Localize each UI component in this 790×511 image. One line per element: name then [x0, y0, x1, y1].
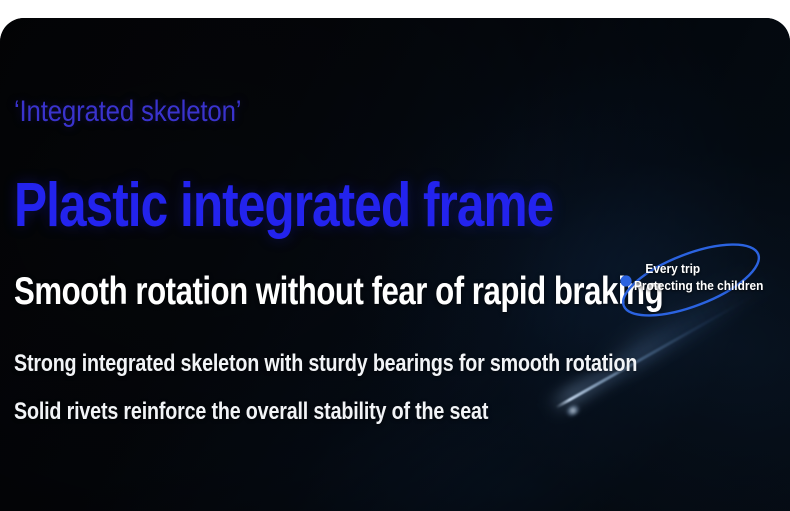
feature-bullet: Solid rivets reinforce the overall stabi…	[14, 400, 488, 424]
subheadline-text: Smooth rotation without fear of rapid br…	[14, 272, 663, 311]
banner-image: ‘Integrated skeleton’ Plastic integrated…	[0, 0, 790, 511]
callout-badge: Every trip Protecting the children	[598, 234, 788, 326]
callout-text-group: Every trip Protecting the children	[634, 261, 784, 295]
headline-text: Plastic integrated frame	[14, 175, 553, 237]
light-streak-tip	[564, 403, 582, 419]
callout-line-secondary: Protecting the children	[634, 278, 777, 295]
kicker-text: ‘Integrated skeleton’	[14, 97, 241, 127]
dark-banner-panel: ‘Integrated skeleton’ Plastic integrated…	[0, 18, 790, 511]
callout-line-primary: Every trip	[634, 261, 777, 278]
feature-bullet: Strong integrated skeleton with sturdy b…	[14, 352, 637, 376]
